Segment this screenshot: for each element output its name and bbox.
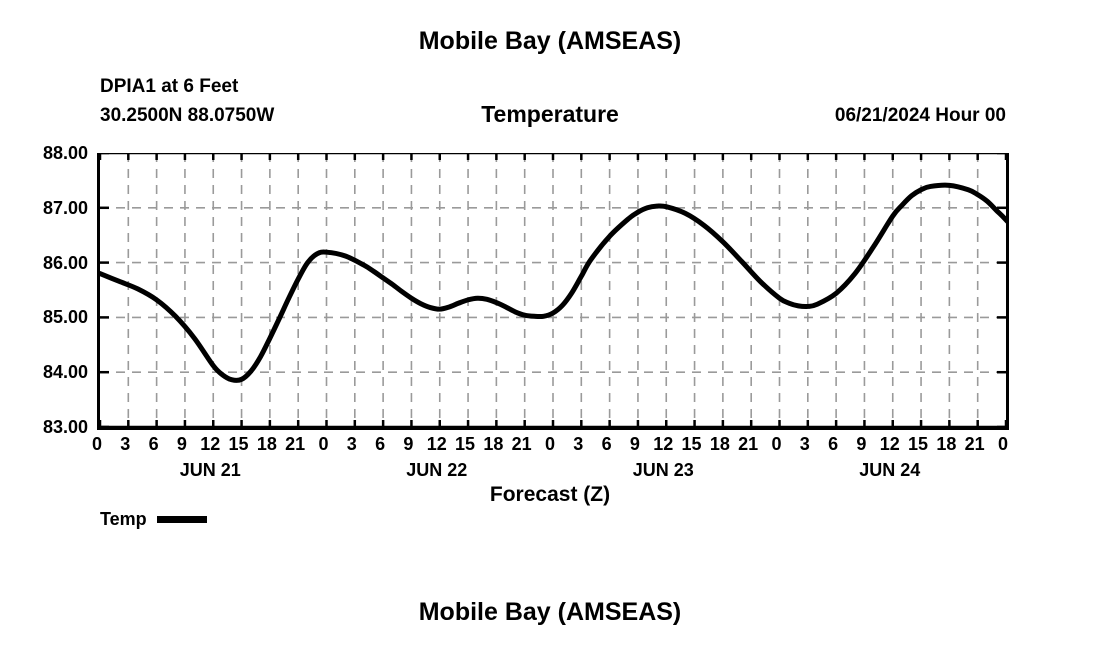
vertical-gridlines bbox=[128, 153, 977, 427]
legend: Temp bbox=[100, 509, 207, 530]
y-tick-label: 86.00 bbox=[8, 254, 88, 272]
day-label: JUN 22 bbox=[357, 460, 517, 481]
x-axis-title: Forecast (Z) bbox=[0, 483, 1100, 507]
y-tick-label: 88.00 bbox=[8, 144, 88, 162]
day-label: JUN 21 bbox=[130, 460, 290, 481]
y-tick-label: 83.00 bbox=[8, 418, 88, 436]
x-tick-label: 0 bbox=[983, 434, 1023, 455]
chart-page: Mobile Bay (AMSEAS) DPIA1 at 6 Feet 30.2… bbox=[0, 0, 1100, 650]
model-run-stamp: 06/21/2024 Hour 00 bbox=[835, 105, 1006, 127]
page-title: Mobile Bay (AMSEAS) bbox=[0, 27, 1100, 56]
y-tick-label: 87.00 bbox=[8, 199, 88, 217]
footer-title: Mobile Bay (AMSEAS) bbox=[0, 598, 1100, 627]
legend-label-temp: Temp bbox=[100, 509, 147, 530]
day-label: JUN 23 bbox=[583, 460, 743, 481]
y-tick-label: 84.00 bbox=[8, 363, 88, 381]
day-label: JUN 24 bbox=[810, 460, 970, 481]
legend-swatch-temp bbox=[157, 516, 207, 523]
station-depth-label: DPIA1 at 6 Feet bbox=[100, 76, 238, 98]
y-tick-label: 85.00 bbox=[8, 308, 88, 326]
temperature-line-chart bbox=[100, 153, 1006, 427]
plot-area bbox=[97, 153, 1009, 430]
